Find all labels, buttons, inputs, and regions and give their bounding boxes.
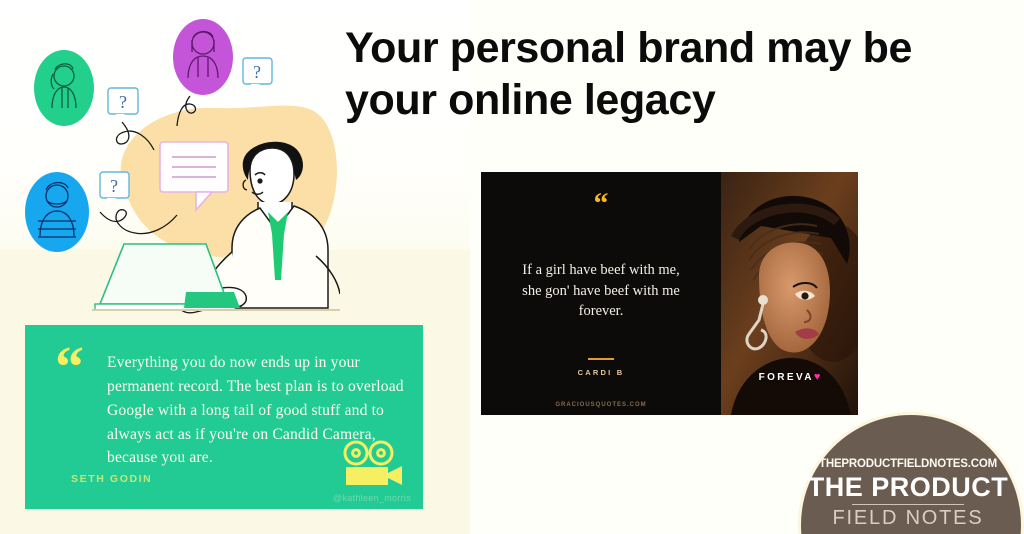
cardi-quote-line-2: she gon' have beef with me <box>499 281 703 302</box>
cardi-b-photo: FOREVA♥ <box>721 172 858 415</box>
cardi-quote-line-3: forever. <box>499 301 703 322</box>
logo-divider <box>852 504 964 505</box>
logo-badge[interactable]: THEPRODUCTFIELDNOTES.COM THE PRODUCT FIE… <box>792 410 1024 534</box>
svg-text:?: ? <box>110 176 118 196</box>
quote-author: SETH GODIN <box>71 473 152 485</box>
heart-icon: ♥ <box>814 371 821 383</box>
cardi-quote-author: CARDI B <box>481 368 721 377</box>
divider <box>588 358 614 360</box>
logo-title: THE PRODUCT <box>792 472 1024 503</box>
logo-subtitle: FIELD NOTES <box>792 507 1024 530</box>
photo-caption: FOREVA♥ <box>721 371 858 383</box>
logo-url: THEPRODUCTFIELDNOTES.COM <box>792 458 1024 470</box>
svg-text:?: ? <box>119 92 127 112</box>
hero-illustration: ? ? ? <box>0 0 340 320</box>
cardi-quote-source: GRACIOUSQUOTES.COM <box>481 402 721 408</box>
quote-card-handle: @kathleen_morris <box>333 493 411 503</box>
slide-canvas: Your personal brand may be your online l… <box>0 0 1024 534</box>
photo-caption-text: FOREVA <box>759 372 814 383</box>
cardi-quote-panel: “ If a girl have beef with me, she gon' … <box>481 172 721 415</box>
seth-godin-quote-card: “ Everything you do now ends up in your … <box>18 318 430 516</box>
quote-mark-icon: “ <box>481 194 721 214</box>
cardi-b-quote-card: “ If a girl have beef with me, she gon' … <box>481 172 858 415</box>
cardi-quote-line-1: If a girl have beef with me, <box>499 260 703 281</box>
page-title: Your personal brand may be your online l… <box>345 22 985 127</box>
quote-mark-icon: “ <box>55 347 84 387</box>
title-line-1: Your personal brand may be <box>345 22 985 74</box>
svg-text:?: ? <box>253 62 261 82</box>
title-line-2: your online legacy <box>345 74 985 126</box>
film-camera-icon <box>339 439 409 487</box>
cardi-quote-text: If a girl have beef with me, she gon' ha… <box>499 260 703 322</box>
